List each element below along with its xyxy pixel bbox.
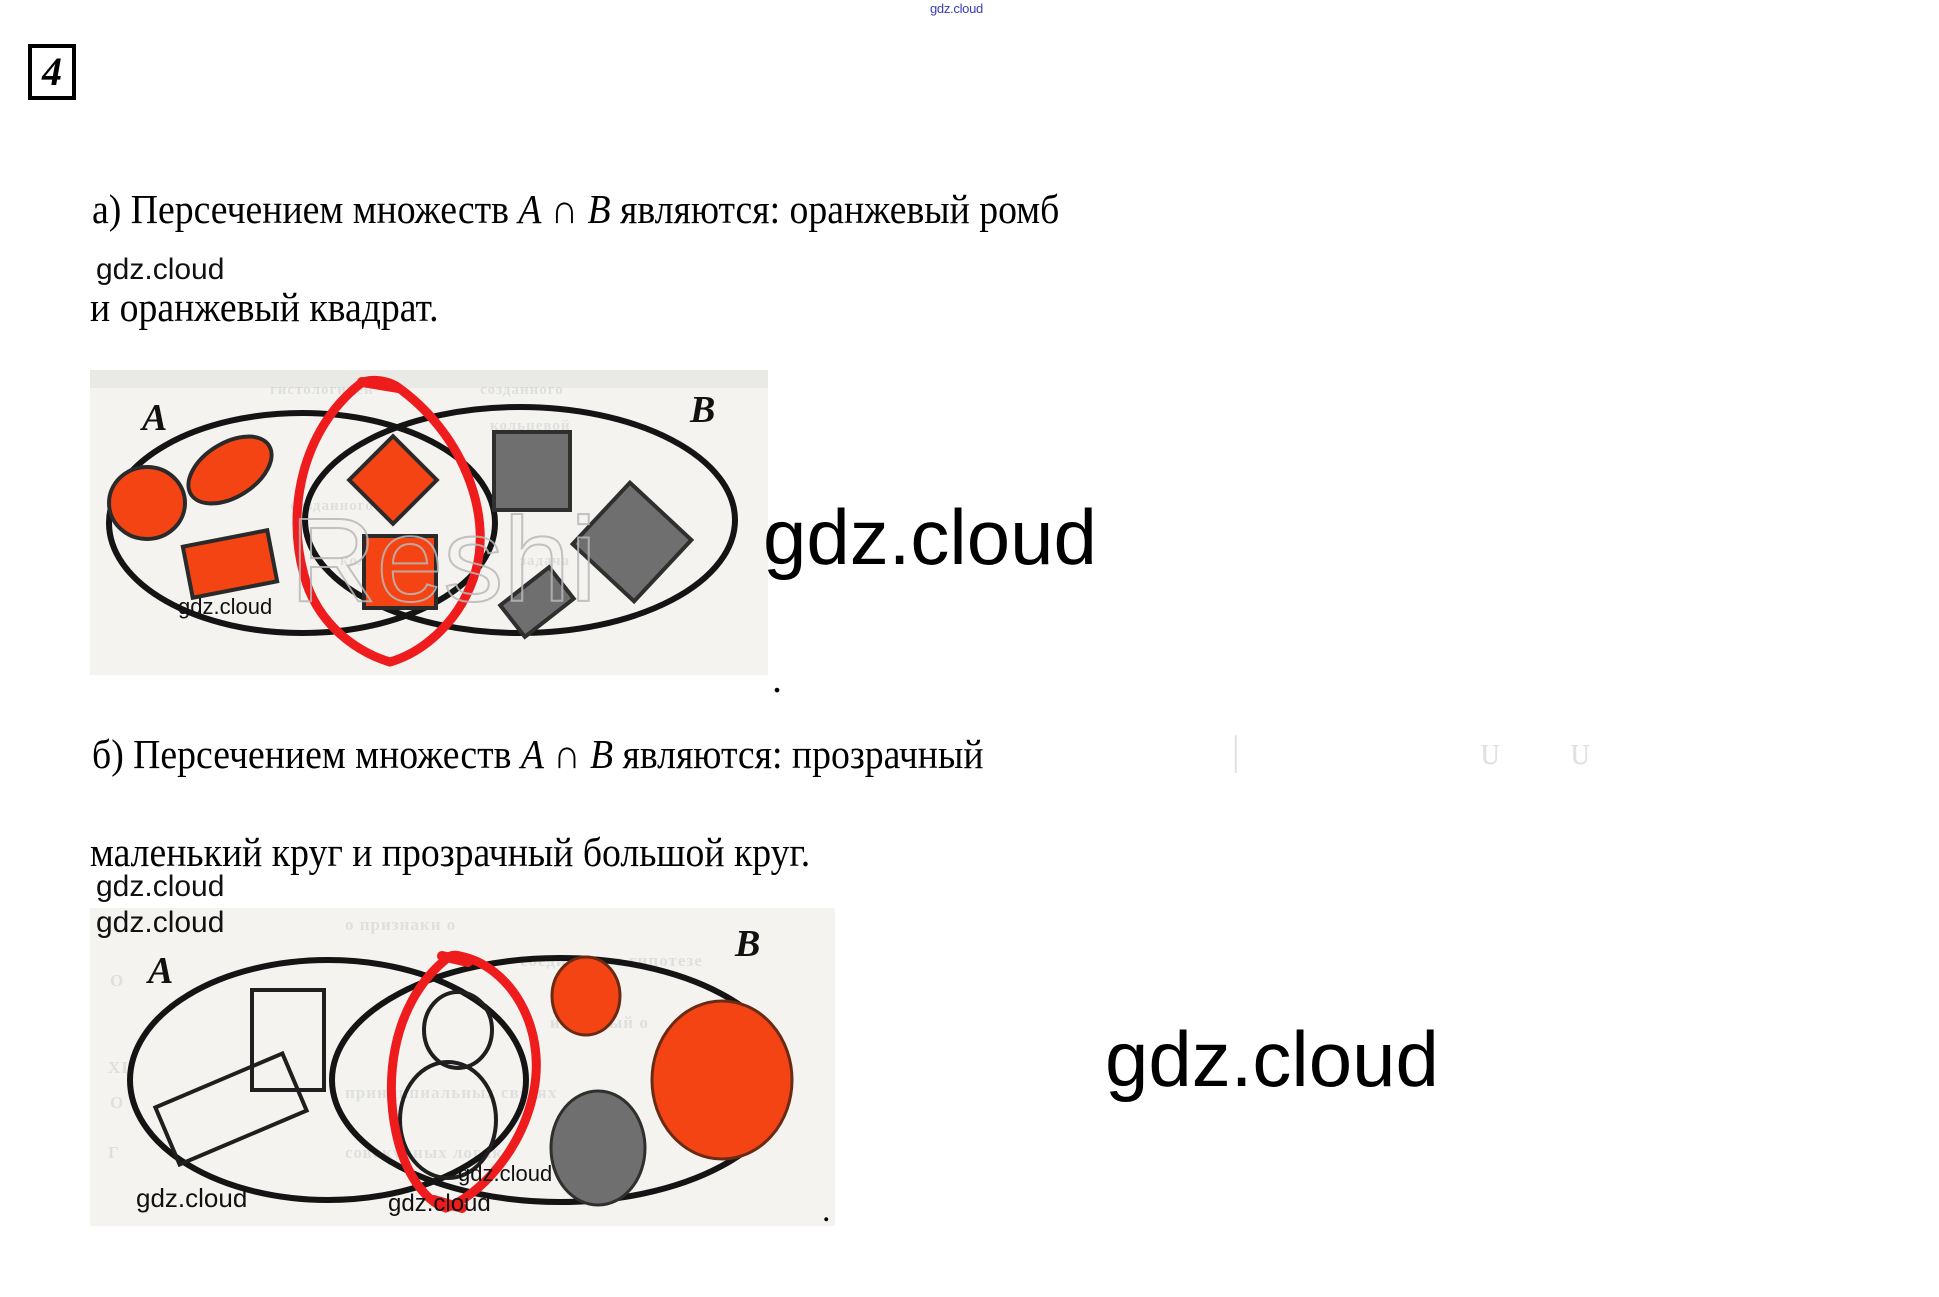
period-after-figure-a: . (772, 655, 782, 702)
answer-a-intersect-symbol: ∩ (541, 186, 587, 232)
answer-b-line-1: б) Персечением множеств A ∩ B являются: … (92, 730, 984, 778)
answer-b-set-b: B (590, 731, 613, 777)
watermark-figure-b-bottom-left: gdz.cloud (136, 1185, 247, 1211)
period-after-figure-b: . (822, 1192, 831, 1230)
answer-a-line-2: и оранжевый квадрат. (90, 283, 439, 331)
watermark-figure-b-top-left: gdz.cloud (96, 908, 224, 938)
answer-b-line-2: маленький круг и прозрачный большой круг… (90, 828, 810, 876)
answer-b-prefix: б) Персечением множеств (92, 731, 521, 777)
watermark-figure-a: gdz.cloud (178, 596, 272, 618)
answer-a-prefix: а) Персечением множеств (92, 186, 518, 232)
svg-text:о признаки о: о признаки о (345, 915, 456, 934)
answer-a-set-a: A (518, 186, 541, 232)
answer-b-intersect-symbol: ∩ (544, 731, 590, 777)
svg-text:созданного: созданного (480, 382, 564, 398)
answer-b-suffix: являются: прозрачный (613, 731, 983, 777)
svg-text:A: A (146, 950, 173, 992)
answer-b-set-a: A (521, 731, 544, 777)
watermark-under-answer-a: gdz.cloud (96, 255, 224, 285)
big-watermark-2: gdz.cloud (1105, 1020, 1439, 1098)
ghost-artifact-b-2: ᴜ (1480, 726, 1500, 774)
svg-text:О: О (110, 1093, 124, 1112)
outline-watermark-reshi: Reshi (290, 500, 597, 620)
svg-text:A: A (140, 397, 167, 439)
ghost-artifact-b-3: ᴜ (1570, 726, 1590, 774)
svg-text:B: B (734, 923, 760, 965)
answer-a-set-b: B (588, 186, 611, 232)
exercise-number-box: 4 (28, 44, 76, 100)
svg-text:Г: Г (108, 1143, 120, 1162)
watermark-under-answer-b: gdz.cloud (96, 872, 224, 902)
svg-text:B: B (689, 389, 715, 431)
big-watermark-1: gdz.cloud (763, 498, 1097, 576)
svg-text:О: О (110, 971, 124, 990)
venn-diagram-b: о признаки о соединяем о гипотезе О изда… (90, 908, 835, 1226)
ghost-artifact-b-1: | (1232, 726, 1240, 774)
svg-text:XI: XI (108, 1058, 129, 1077)
watermark-figure-b-bottom-center: gdz.cloud (388, 1192, 491, 1216)
answer-a-line-1: а) Персечением множеств A ∩ B являются: … (92, 185, 1059, 233)
top-watermark: gdz.cloud (930, 1, 983, 16)
watermark-figure-b-right: gdz.cloud (458, 1163, 552, 1185)
answer-a-suffix: являются: оранжевый ромб (611, 186, 1060, 232)
